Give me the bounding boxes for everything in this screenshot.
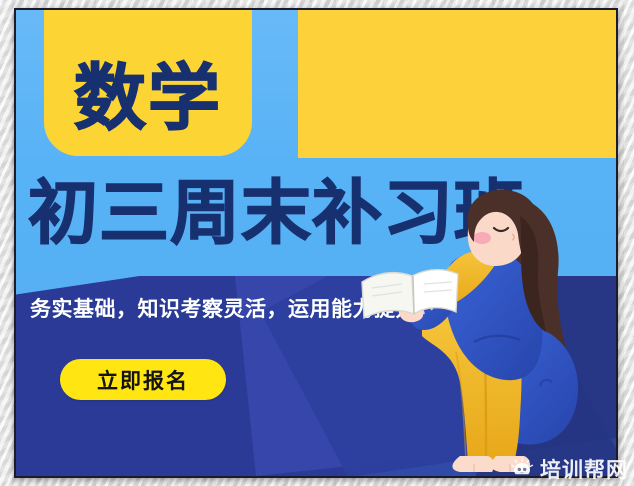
sun-face-icon (510, 458, 534, 480)
subject-badge: 数学 (44, 8, 252, 156)
enroll-now-button[interactable]: 立即报名 (60, 359, 226, 400)
watermark: 培训帮网 (510, 454, 628, 484)
illustration-woman-reading (356, 176, 616, 476)
watermark-label: 培训帮网 (540, 454, 628, 484)
figure-cheek (473, 232, 491, 244)
subject-badge-label: 数学 (74, 62, 222, 156)
enroll-now-button-label: 立即报名 (97, 365, 189, 395)
course-promo-poster: 数学 初三周末补习班 务实基础，知识考察灵活，运用能力提升 立即报名 (14, 8, 618, 478)
screenshot-canvas: 数学 初三周末补习班 务实基础，知识考察灵活，运用能力提升 立即报名 (0, 0, 634, 486)
corner-arc-decoration (298, 8, 618, 158)
arc-yellow-fill (298, 8, 618, 158)
